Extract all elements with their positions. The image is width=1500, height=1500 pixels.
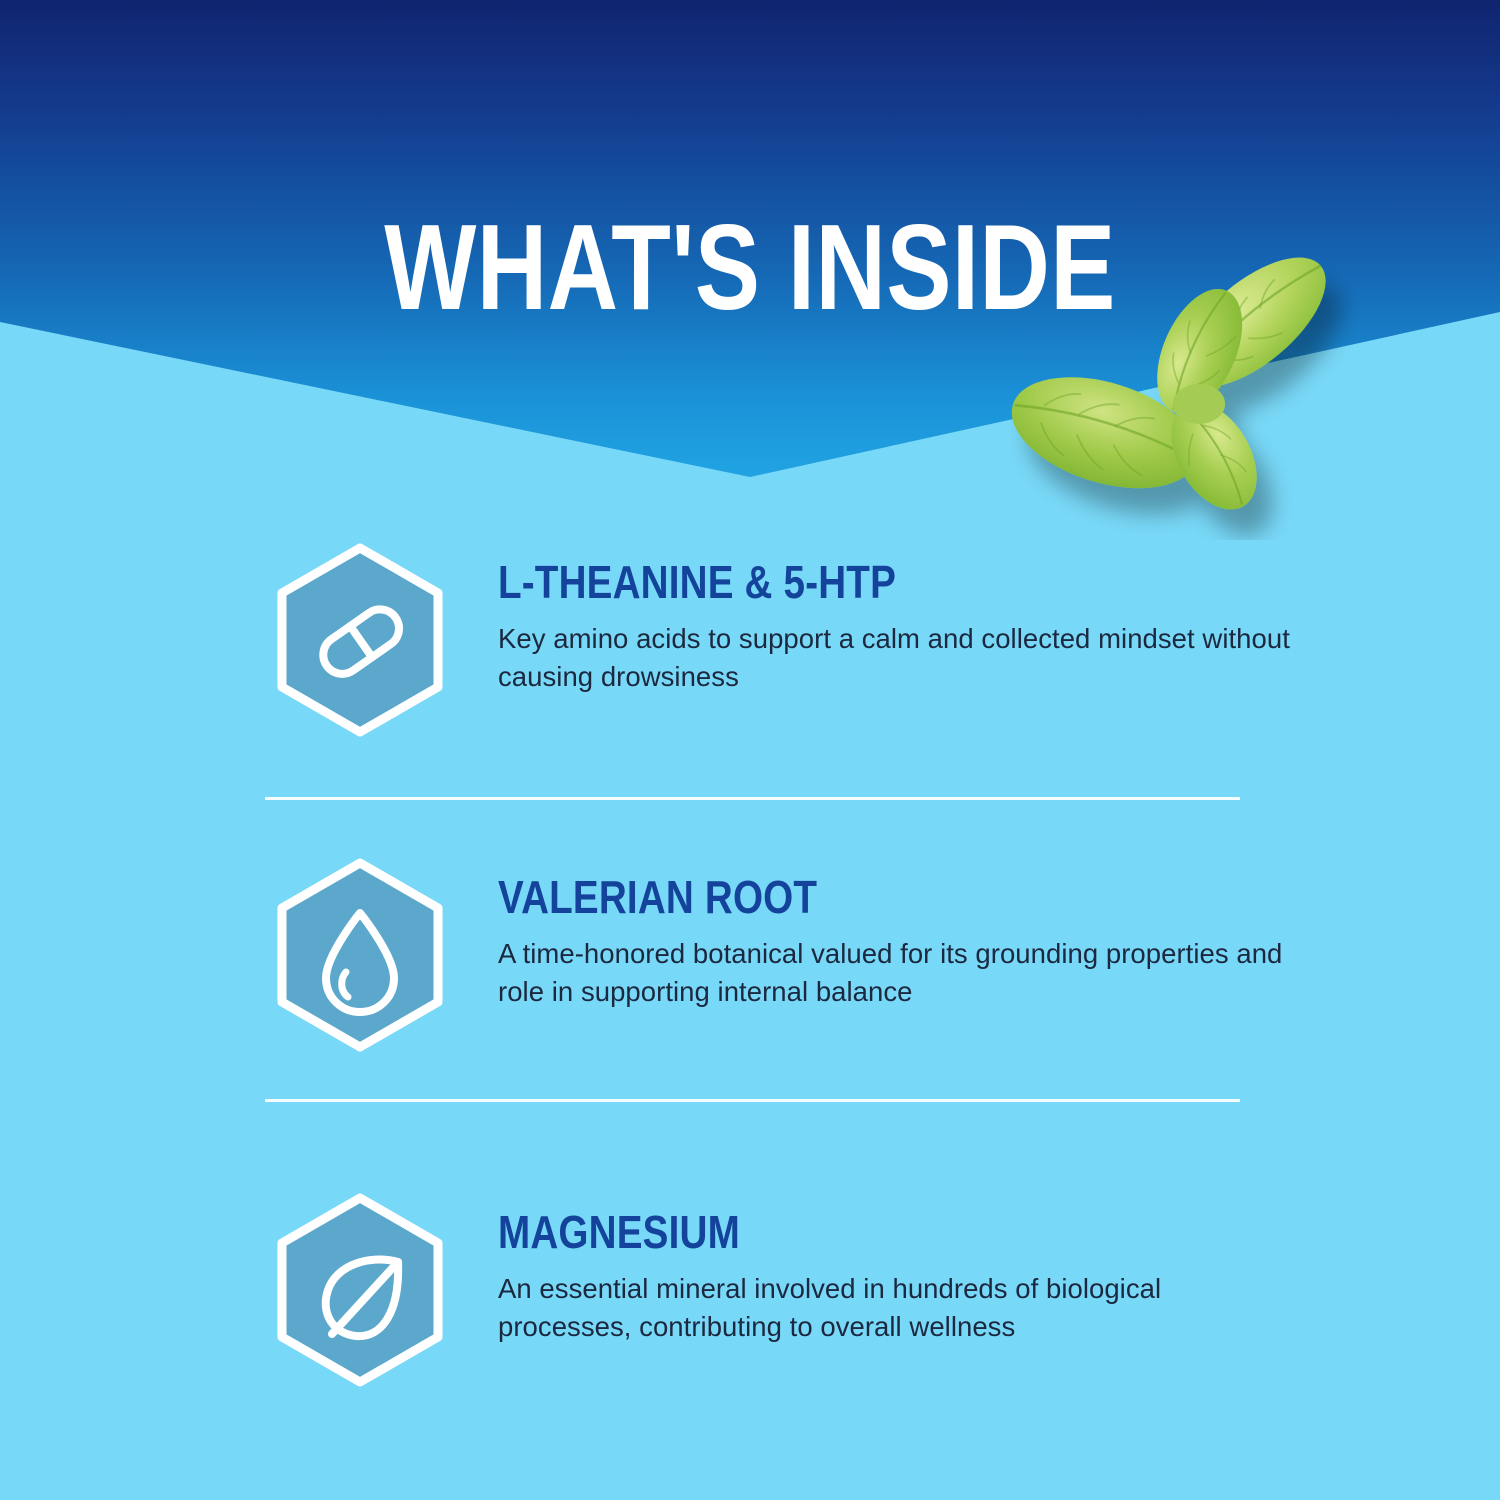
ingredient-text: MAGNESIUM An essential mineral involved … <box>498 1208 1298 1346</box>
ingredient-heading: MAGNESIUM <box>498 1208 1170 1256</box>
ingredient-row: MAGNESIUM An essential mineral involved … <box>0 1190 1500 1430</box>
section-divider <box>265 1099 1240 1102</box>
ingredient-text: L-THEANINE & 5-HTP Key amino acids to su… <box>498 558 1298 696</box>
leaf-icon <box>270 1190 450 1390</box>
whats-inside-poster: WHAT'S INSIDE <box>0 0 1500 1500</box>
section-divider <box>265 797 1240 800</box>
water-droplet-icon <box>270 855 450 1055</box>
ingredient-description: An essential mineral involved in hundred… <box>498 1270 1298 1346</box>
ingredient-heading: L-THEANINE & 5-HTP <box>498 558 1170 606</box>
pill-capsule-icon <box>270 540 450 740</box>
ingredient-text: VALERIAN ROOT A time-honored botanical v… <box>498 873 1298 1011</box>
ingredient-row: VALERIAN ROOT A time-honored botanical v… <box>0 855 1500 1095</box>
ingredients-list: L-THEANINE & 5-HTP Key amino acids to su… <box>0 0 1500 1500</box>
ingredient-heading: VALERIAN ROOT <box>498 873 1170 921</box>
ingredient-description: Key amino acids to support a calm and co… <box>498 620 1298 696</box>
ingredient-description: A time-honored botanical valued for its … <box>498 935 1298 1011</box>
ingredient-row: L-THEANINE & 5-HTP Key amino acids to su… <box>0 540 1500 780</box>
